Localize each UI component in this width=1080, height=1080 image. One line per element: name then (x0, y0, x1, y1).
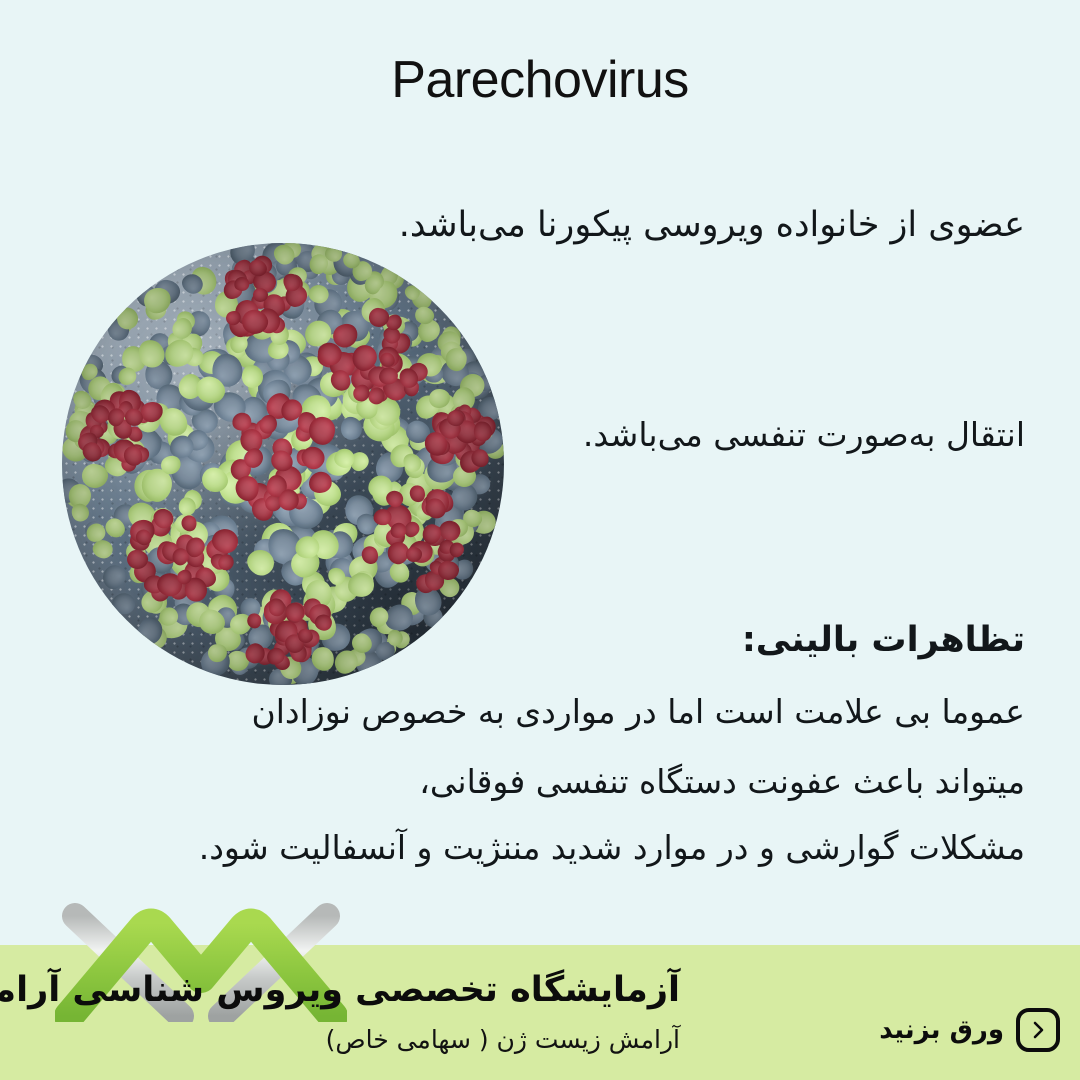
text-transmission: انتقال به‌صورت تنفسی می‌باشد. (583, 415, 1025, 454)
chevron-right-icon[interactable] (1016, 1008, 1060, 1052)
capsid-subunit (112, 593, 136, 615)
capsid-subunit (178, 497, 196, 516)
swipe-control[interactable]: ورق بزنید (879, 1008, 1060, 1052)
capsid-subunit (405, 547, 421, 562)
swipe-label: ورق بزنید (879, 1015, 1004, 1045)
capsid-subunit (98, 561, 129, 593)
page-title: Parechovirus (0, 52, 1080, 109)
footer-brand-subtitle: آرامش زیست ژن ( سهامی خاص) (326, 1025, 680, 1054)
footer-brand-title: آزمایشگاه تخصصی ویروس شناسی آرامیس (0, 970, 680, 1010)
capsid-sphere (62, 243, 504, 685)
text-clinical-line-2: میتواند باعث عفونت دستگاه تنفسی فوقانی، (419, 762, 1025, 801)
capsid-subunit (309, 416, 336, 445)
capsid-subunit (374, 509, 392, 526)
parechovirus-capsid-image (62, 243, 504, 685)
text-clinical-line-1: عموما بی علامت است اما در مواردی به خصوص… (252, 692, 1026, 731)
heading-clinical: تظاهرات بالینی: (742, 620, 1025, 660)
text-family: عضوی از خانواده ویروسی پیکورنا می‌باشد. (399, 205, 1025, 245)
slide-root: Parechovirus عضوی از خانواده ویروسی پیکو… (0, 0, 1080, 1080)
text-clinical-line-3: مشکلات گوارشی و در موارد شدید مننژیت و آ… (199, 828, 1025, 867)
